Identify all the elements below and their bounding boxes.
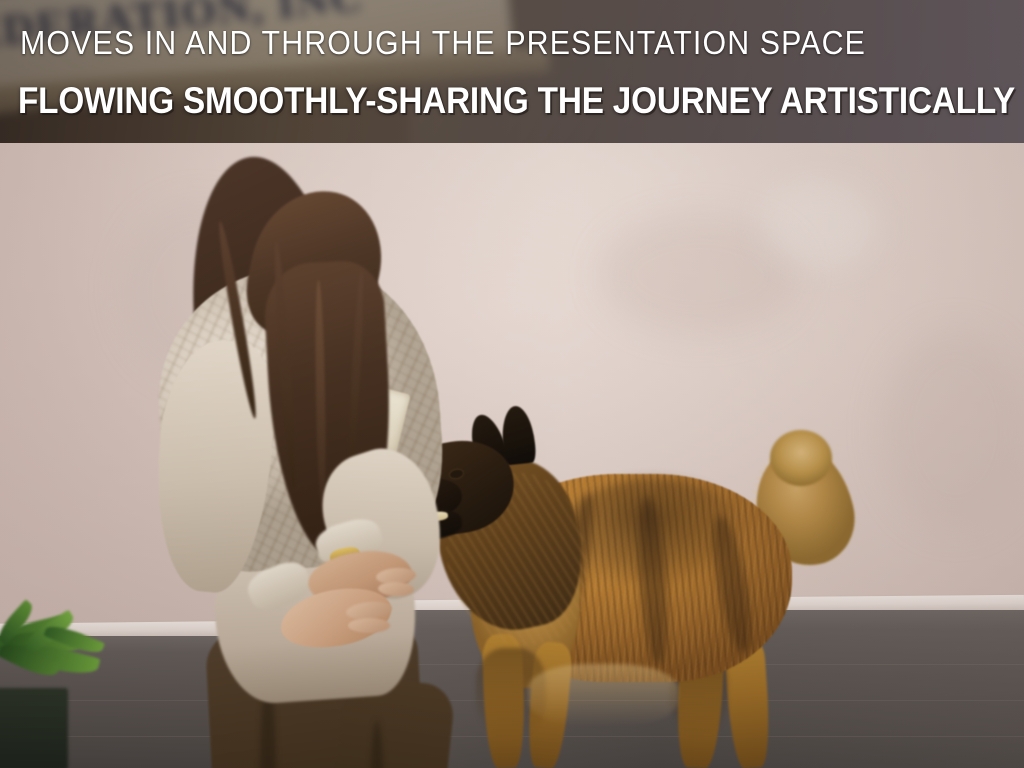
slide-header-overlay: EDERATION, INC MOVES IN AND THROUGH THE … bbox=[0, 0, 1024, 143]
slide-subtitle: MOVES IN AND THROUGH THE PRESENTATION SP… bbox=[20, 26, 866, 61]
hand-finger bbox=[348, 618, 390, 633]
dog-tail-tuft bbox=[770, 430, 832, 486]
wall-highlight bbox=[760, 180, 880, 270]
dog-handler: 4 bbox=[120, 150, 450, 768]
slide-title: FLOWING SMOOTHLY-SHARING THE JOURNEY ART… bbox=[18, 82, 1015, 121]
wall-smudge bbox=[880, 330, 1024, 530]
dog-belly-fringe bbox=[528, 664, 678, 726]
presentation-slide: 4 bbox=[0, 0, 1024, 768]
belgian-tervuren-dog bbox=[378, 418, 878, 768]
plant-pot bbox=[0, 688, 68, 768]
header-text-block: MOVES IN AND THROUGH THE PRESENTATION SP… bbox=[0, 0, 1024, 143]
